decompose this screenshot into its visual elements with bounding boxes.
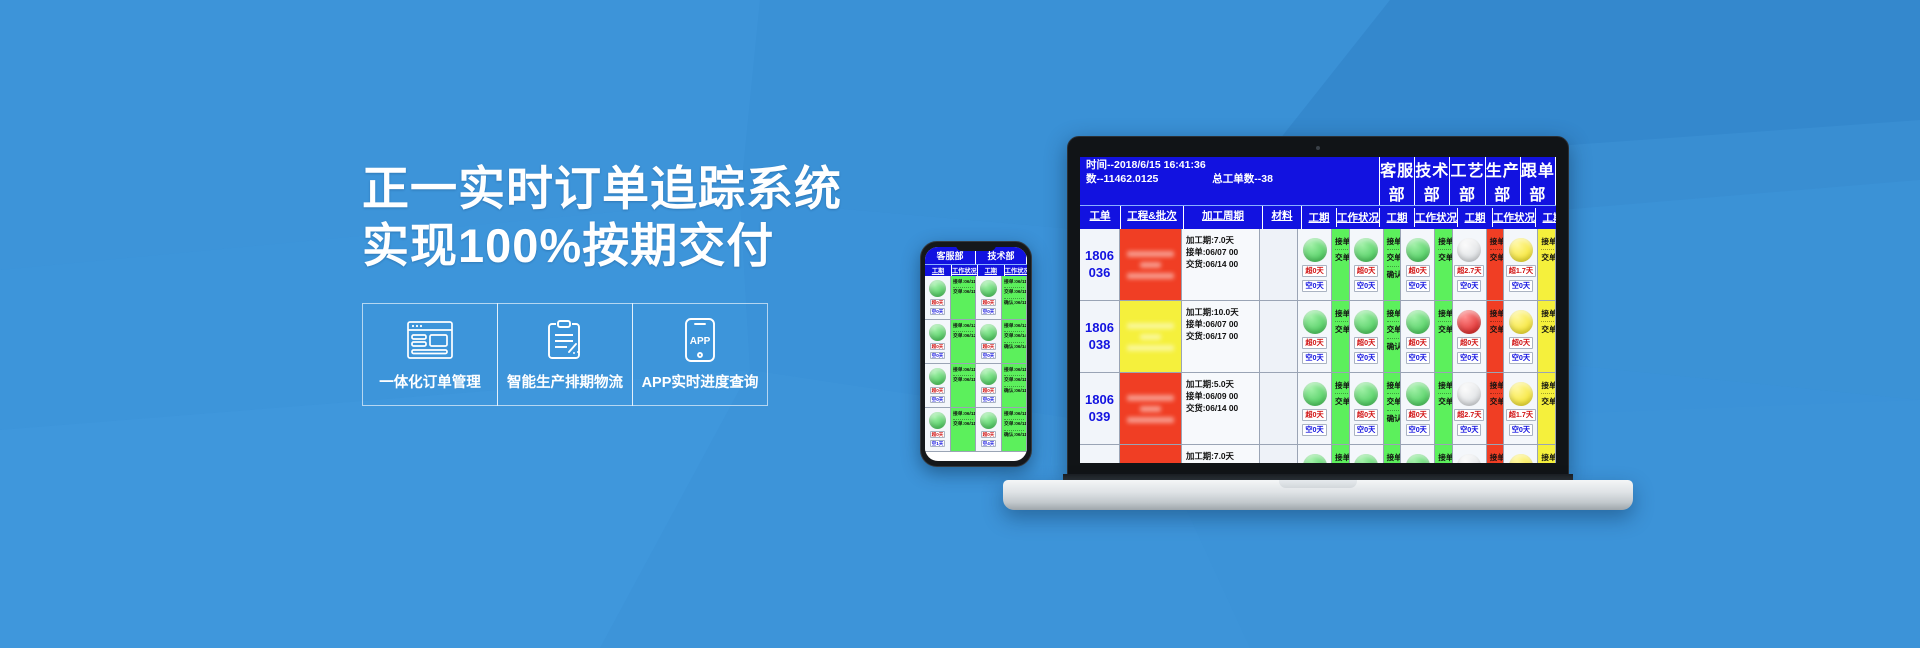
status-line: 交单: <box>1490 325 1503 337</box>
idle-badge: 空1天 <box>930 440 946 447</box>
idle-badge: 空0天 <box>981 352 997 359</box>
status-lamp-green-icon <box>1303 382 1327 406</box>
laptop-base <box>1003 480 1633 510</box>
feature-card-app-progress[interactable]: APP APP实时进度查询 <box>632 303 768 406</box>
cell-status-4[interactable]: 接单:交单: <box>1538 229 1556 300</box>
dashboard-count: 数--11462.0125 <box>1086 173 1158 185</box>
laptop-mockup: 时间--2018/6/15 16:41:36 数--11462.0125 总工单… <box>1003 136 1633 516</box>
status-lamp-green-icon <box>929 412 946 429</box>
work-order-prefix: 1806 <box>1085 248 1114 264</box>
phone-cell-term-1[interactable]: 超0天空0天 <box>976 320 1002 363</box>
status-lamp-green-icon <box>1303 310 1327 334</box>
cell-work-order[interactable]: 1806040 <box>1080 445 1120 463</box>
status-line: 接单:06/11 17 <box>953 368 973 376</box>
overdue-badge: 超2.7天 <box>1454 265 1484 277</box>
status-line: 接单:06/12 09 <box>1490 453 1503 463</box>
redacted-text <box>1140 262 1162 268</box>
overdue-badge: 超0天 <box>981 387 997 394</box>
overdue-badge: 超0天 <box>1354 265 1378 277</box>
overdue-badge: 超1.7天 <box>1506 409 1536 421</box>
status-line: 交单:06/11 17 <box>1335 253 1348 265</box>
status-line: 接单: <box>1541 453 1554 463</box>
status-lamp-yellow-icon <box>1509 454 1533 463</box>
status-line: 交单: <box>1490 253 1503 265</box>
cell-term-2[interactable]: 超0天空0天 <box>1401 373 1435 444</box>
status-line: 交单:06/11 17 <box>953 290 973 297</box>
status-line: 接单:06/11 17 <box>1335 381 1348 394</box>
idle-badge: 空0天 <box>1406 424 1430 436</box>
cycle-line: 交货:06/14 00 <box>1186 259 1259 271</box>
cell-project-batch[interactable] <box>1120 445 1182 463</box>
work-order-prefix: 1806 <box>1085 392 1114 408</box>
col-header-project-batch[interactable]: 工程&批次 <box>1121 206 1184 229</box>
cell-term-0[interactable]: 超0天空0天 <box>1298 301 1332 372</box>
overdue-badge: 超0天 <box>1302 409 1326 421</box>
idle-badge: 空0天 <box>1457 280 1481 292</box>
cell-status-2[interactable]: 接单:06/14 08交单:06/15 16 <box>1435 301 1453 372</box>
headline-line-1: 正一实时订单追踪系统 <box>362 160 882 217</box>
cell-status-3[interactable]: 接单:06/12 09交单: <box>1487 229 1505 300</box>
clipboard-schedule-icon <box>545 316 585 364</box>
status-line: 接单: <box>1541 309 1554 322</box>
feature-list: 一体化订单管理 智能生产排期物流 <box>362 303 882 406</box>
cell-term-4[interactable]: 超0天空0天 <box>1504 301 1538 372</box>
idle-badge: 空0天 <box>930 352 946 359</box>
status-line: 交单:06/11 17 <box>1335 397 1348 409</box>
cell-term-3[interactable]: 超0天空0天 <box>1453 301 1487 372</box>
feature-card-order-management[interactable]: 一体化订单管理 <box>362 303 498 406</box>
cell-term-2[interactable]: 超0天空3天 <box>1401 445 1435 463</box>
cell-status-2[interactable]: 接单:06/11 17交单:06/12 09 <box>1435 445 1453 463</box>
idle-badge: 空4天 <box>981 440 997 447</box>
status-lamp-red-icon <box>1457 310 1481 334</box>
svg-text:APP: APP <box>690 336 711 347</box>
idle-badge: 空0天 <box>1457 352 1481 364</box>
status-line: 接单:06/11 17 <box>1335 453 1348 463</box>
status-line: 接单:06/12 09 <box>1490 237 1503 250</box>
laptop-base-notch <box>1279 480 1357 488</box>
cell-term-0[interactable]: 超0天空1天 <box>1298 445 1332 463</box>
status-line: 接单: <box>1541 237 1554 250</box>
overdue-badge: 超0天 <box>1457 337 1481 349</box>
dashboard-meta: 时间--2018/6/15 16:41:36 数--11462.0125 总工单… <box>1080 157 1380 205</box>
cycle-line: 加工期:7.0天 <box>1186 451 1259 463</box>
phone-cell-status-0[interactable]: 接单:06/11 17交单:06/11 17 <box>951 408 976 451</box>
status-lamp-green-icon <box>980 280 997 297</box>
status-line: 交单:06/11 17 <box>1387 253 1400 266</box>
dept-header-1[interactable]: 技术部 <box>1415 157 1450 205</box>
phone-col-status-0[interactable]: 工作状况 <box>952 265 978 276</box>
status-line: 接单:06/12 20 <box>1387 309 1400 322</box>
cell-status-1[interactable]: 接单:06/11 17交单:06/11 17确认:06/11 17 <box>1384 229 1402 300</box>
status-line: 接单:06/12 09 <box>1490 381 1503 394</box>
idle-badge: 空0天 <box>1509 280 1533 292</box>
idle-badge: 空0天 <box>1302 280 1326 292</box>
status-lamp-green-icon <box>980 324 997 341</box>
cell-term-0[interactable]: 超0天空0天 <box>1298 373 1332 444</box>
status-line: 接单:06/11 17 <box>1438 381 1451 394</box>
status-lamp-green-icon <box>929 324 946 341</box>
status-line: 接单:06/11 17 <box>1335 237 1348 250</box>
col-header-term-3[interactable]: 工期 <box>1536 208 1556 227</box>
cell-cycle[interactable]: 加工期:5.0天接单:06/09 00交货:06/14 00 <box>1182 373 1260 444</box>
dashboard-rows[interactable]: 1806036加工期:7.0天接单:06/07 00交货:06/14 00超0天… <box>1080 229 1556 463</box>
laptop-screen[interactable]: 时间--2018/6/15 16:41:36 数--11462.0125 总工单… <box>1080 157 1556 463</box>
work-order-prefix: 1806 <box>1085 320 1114 336</box>
status-line: 确认:06/11 17 <box>1387 414 1400 426</box>
status-lamp-yellow-icon <box>1509 382 1533 406</box>
table-row[interactable]: 1806040加工期:7.0天接单:06/08 00交货:06/15 00超0天… <box>1080 445 1556 463</box>
status-lamp-green-icon <box>1354 238 1378 262</box>
idle-badge: 空0天 <box>1302 352 1326 364</box>
status-lamp-green-icon <box>1406 454 1430 463</box>
cell-term-4[interactable]: 超0.7天空1天 <box>1504 445 1538 463</box>
status-line: 交单: <box>1541 397 1554 409</box>
cell-status-4[interactable]: 接单:交单: <box>1538 301 1556 372</box>
redacted-text <box>1127 395 1173 401</box>
idle-badge: 空0天 <box>981 396 997 403</box>
status-lamp-yellow-icon <box>1509 238 1533 262</box>
status-line: 交单:06/14 08 <box>1387 325 1400 338</box>
phone-col-term-1[interactable]: 工期 <box>978 265 1005 276</box>
overdue-badge: 超1.7天 <box>1506 265 1536 277</box>
status-lamp-green-icon <box>1354 382 1378 406</box>
work-order-suffix: 038 <box>1089 337 1111 353</box>
status-line: 交单:06/11 17 <box>953 422 973 429</box>
cell-term-1[interactable]: 超0天空4天 <box>1350 445 1384 463</box>
cell-work-order[interactable]: 1806039 <box>1080 373 1120 444</box>
cell-status-1[interactable]: 接单:06/11 17交单:06/11 17确认:06/11 17 <box>1384 445 1402 463</box>
status-line: 接单:06/15 16 <box>1490 309 1503 322</box>
cell-term-1[interactable]: 超0天空0天 <box>1350 229 1384 300</box>
idle-badge: 空0天 <box>1354 352 1378 364</box>
cell-status-0[interactable]: 接单:06/11 17交单:06/11 17 <box>1332 373 1350 444</box>
status-lamp-green-icon <box>1354 454 1378 463</box>
status-line: 交单:06/12 09 <box>1438 397 1451 409</box>
overdue-badge: 超0天 <box>1406 409 1430 421</box>
overdue-badge: 超0天 <box>981 299 997 306</box>
overdue-badge: 超0天 <box>930 343 946 350</box>
status-lamp-green-icon <box>1406 238 1430 262</box>
idle-badge: 空0天 <box>1302 424 1326 436</box>
col-header-status-2[interactable]: 工作状况 <box>1493 208 1536 227</box>
cell-cycle[interactable]: 加工期:7.0天接单:06/08 00交货:06/15 00 <box>1182 445 1260 463</box>
phone-cell-term-0[interactable]: 超0天空1天 <box>925 408 951 451</box>
cell-status-3[interactable]: 接单:06/15 16交单: <box>1487 301 1505 372</box>
overdue-badge: 超0天 <box>1509 337 1533 349</box>
idle-badge: 空0天 <box>1354 424 1378 436</box>
idle-badge: 空0天 <box>930 308 946 315</box>
cycle-line: 接单:06/09 00 <box>1186 391 1259 403</box>
cell-term-3[interactable]: 超2.7天空0天 <box>1453 373 1487 444</box>
status-line: 交单: <box>1541 253 1554 265</box>
redacted-text <box>1127 251 1173 257</box>
cell-term-1[interactable]: 超0天空0天 <box>1350 373 1384 444</box>
status-line: 确认:06/14 08 <box>1387 342 1400 354</box>
cycle-line: 加工期:10.0天 <box>1186 307 1259 319</box>
overdue-badge: 超2.7天 <box>1454 409 1484 421</box>
overdue-badge: 超0天 <box>930 299 946 306</box>
redacted-text <box>1140 334 1162 340</box>
overdue-badge: 超0天 <box>1354 337 1378 349</box>
status-line: 交单:06/11 17 <box>1387 397 1400 410</box>
cell-work-order[interactable]: 1806038 <box>1080 301 1120 372</box>
col-header-term-2[interactable]: 工期 <box>1458 208 1493 227</box>
overdue-badge: 超0天 <box>1354 409 1378 421</box>
cell-project-batch[interactable] <box>1120 301 1182 372</box>
col-header-status-0[interactable]: 工作状况 <box>1337 208 1380 227</box>
cycle-line: 交货:06/14 00 <box>1186 403 1259 415</box>
table-row[interactable]: 1806038加工期:10.0天接单:06/07 00交货:06/17 00超0… <box>1080 301 1556 373</box>
dept-header-4[interactable]: 跟单部 <box>1521 157 1556 205</box>
cell-term-0[interactable]: 超0天空0天 <box>1298 229 1332 300</box>
status-line: 接单:06/11 17 <box>1438 237 1451 250</box>
cell-material[interactable] <box>1260 229 1298 300</box>
cell-material[interactable] <box>1260 301 1298 372</box>
cell-cycle[interactable]: 加工期:7.0天接单:06/07 00交货:06/14 00 <box>1182 229 1260 300</box>
dashboard-total-orders: 总工单数--38 <box>1212 173 1273 185</box>
dashboard-count-row: 数--11462.0125 总工单数--38 <box>1086 173 1379 187</box>
cell-status-3[interactable]: 接单:06/12 09交单: <box>1487 373 1505 444</box>
table-row[interactable]: 1806039加工期:5.0天接单:06/09 00交货:06/14 00超0天… <box>1080 373 1556 445</box>
cycle-line: 交货:06/17 00 <box>1186 331 1259 343</box>
table-row[interactable]: 1806036加工期:7.0天接单:06/07 00交货:06/14 00超0天… <box>1080 229 1556 301</box>
redacted-text <box>1127 323 1173 329</box>
cell-status-1[interactable]: 接单:06/11 17交单:06/11 17确认:06/11 17 <box>1384 373 1402 444</box>
cell-status-2[interactable]: 接单:06/11 17交单:06/12 09 <box>1435 229 1453 300</box>
col-header-cycle[interactable]: 加工周期 <box>1184 206 1263 229</box>
cell-status-0[interactable]: 接单:06/12 20交单:06/12 20 <box>1332 301 1350 372</box>
mobile-app-icon: APP <box>684 316 716 364</box>
overdue-badge: 超0天 <box>930 431 946 438</box>
work-order-suffix: 039 <box>1089 409 1111 425</box>
idle-badge: 空0天 <box>1509 352 1533 364</box>
status-lamp-green-icon <box>929 280 946 297</box>
redacted-text <box>1127 417 1173 423</box>
status-line: 接单:06/11 17 <box>1387 381 1400 394</box>
status-lamp-yellow-icon <box>1509 310 1533 334</box>
cell-status-3[interactable]: 接单:06/12 09交单: <box>1487 445 1505 463</box>
feature-label-app-progress: APP实时进度查询 <box>642 371 759 392</box>
status-lamp-green-icon <box>1303 454 1327 463</box>
cycle-line: 接单:06/07 00 <box>1186 319 1259 331</box>
cell-term-2[interactable]: 超0天空0天 <box>1401 229 1435 300</box>
status-line: 交单:06/12 20 <box>953 334 973 341</box>
phone-col-term-0[interactable]: 工期 <box>925 265 952 276</box>
phone-cell-term-1[interactable]: 超0天空4天 <box>976 408 1002 451</box>
cell-project-batch[interactable] <box>1120 373 1182 444</box>
phone-cell-status-0[interactable]: 接单:06/11 17交单:06/11 17 <box>951 276 976 319</box>
dept-header-2[interactable]: 工艺部 <box>1450 157 1485 205</box>
status-lamp-grey-icon <box>1457 382 1481 406</box>
cycle-line: 加工期:5.0天 <box>1186 379 1259 391</box>
status-line: 接单:06/14 08 <box>1438 309 1451 322</box>
overdue-badge: 超0天 <box>1302 265 1326 277</box>
dept-header-3[interactable]: 生产部 <box>1486 157 1521 205</box>
overdue-badge: 超0天 <box>1302 337 1326 349</box>
cell-material[interactable] <box>1260 445 1298 463</box>
idle-badge: 空0天 <box>1457 424 1481 436</box>
phone-cell-term-0[interactable]: 超0天空0天 <box>925 364 951 407</box>
feature-card-production-schedule[interactable]: 智能生产排期物流 <box>497 303 633 406</box>
dashboard-time: 时间--2018/6/15 16:41:36 <box>1086 159 1379 173</box>
status-lamp-green-icon <box>980 368 997 385</box>
cell-status-4[interactable]: 接单:交单: <box>1538 445 1556 463</box>
col-header-status-1[interactable]: 工作状况 <box>1415 208 1458 227</box>
status-lamp-green-icon <box>929 368 946 385</box>
status-line: 接单: <box>1541 381 1554 394</box>
cycle-line: 接单:06/07 00 <box>1186 247 1259 259</box>
cell-term-3[interactable]: 超1.7天空5天 <box>1453 445 1487 463</box>
status-lamp-grey-icon <box>1457 238 1481 262</box>
status-lamp-green-icon <box>1354 310 1378 334</box>
cell-status-0[interactable]: 接单:06/11 17交单:06/11 17 <box>1332 229 1350 300</box>
phone-cell-term-0[interactable]: 超0天空0天 <box>925 276 951 319</box>
cell-status-2[interactable]: 接单:06/11 17交单:06/12 09 <box>1435 373 1453 444</box>
status-line: 交单:06/15 16 <box>1438 325 1451 337</box>
dashboard-column-header: 工单 工程&批次 加工周期 材料 工期工作状况工期工作状况工期工作状况工期工作状… <box>1080 205 1556 229</box>
cell-term-4[interactable]: 超1.7天空0天 <box>1504 373 1538 444</box>
overdue-badge: 超0天 <box>981 343 997 350</box>
cell-status-0[interactable]: 接单:06/11 17交单:06/11 17 <box>1332 445 1350 463</box>
overdue-badge: 超0天 <box>930 387 946 394</box>
cell-term-1[interactable]: 超0天空0天 <box>1350 301 1384 372</box>
col-header-term-0[interactable]: 工期 <box>1302 208 1337 227</box>
webcam-icon <box>1316 146 1320 150</box>
idle-badge: 空0天 <box>1406 280 1430 292</box>
phone-notch <box>956 244 996 251</box>
cell-status-1[interactable]: 接单:06/12 20交单:06/14 08确认:06/14 08 <box>1384 301 1402 372</box>
status-line: 交单:06/11 17 <box>953 378 973 385</box>
idle-badge: 空0天 <box>1509 424 1533 436</box>
status-line: 接单:06/12 20 <box>1335 309 1348 322</box>
cell-term-3[interactable]: 超2.7天空0天 <box>1453 229 1487 300</box>
status-lamp-green-icon <box>1406 310 1430 334</box>
idle-badge: 空0天 <box>1406 352 1430 364</box>
status-line: 交单:06/12 20 <box>1335 325 1348 337</box>
cell-term-4[interactable]: 超1.7天空0天 <box>1504 229 1538 300</box>
idle-badge: 空0天 <box>1354 280 1378 292</box>
redacted-text <box>1127 273 1173 279</box>
dashboard-layout-icon <box>407 316 453 364</box>
status-lamp-green-icon <box>1406 382 1430 406</box>
phone-cell-status-0[interactable]: 接单:06/12 20交单:06/12 20 <box>951 320 976 363</box>
col-header-term-1[interactable]: 工期 <box>1380 208 1415 227</box>
status-line: 接单:06/12 20 <box>953 324 973 332</box>
status-line: 交单: <box>1541 325 1554 337</box>
status-line: 接单:06/11 17 <box>1387 453 1400 463</box>
status-lamp-green-icon <box>980 412 997 429</box>
col-header-material[interactable]: 材料 <box>1263 206 1302 229</box>
overdue-badge: 超0天 <box>1406 265 1430 277</box>
cell-material[interactable] <box>1260 373 1298 444</box>
status-line: 确认:06/11 17 <box>1387 270 1400 282</box>
cell-work-order[interactable]: 1806036 <box>1080 229 1120 300</box>
cell-status-4[interactable]: 接单:交单: <box>1538 373 1556 444</box>
dept-header-0[interactable]: 客服部 <box>1380 157 1415 205</box>
redacted-text <box>1140 406 1162 412</box>
status-line: 接单:06/11 17 <box>953 412 973 420</box>
overdue-badge: 超0天 <box>981 431 997 438</box>
hero-text-block: 正一实时订单追踪系统 实现100%按期交付 一体化订单管理 <box>362 160 882 406</box>
status-line: 接单:06/11 17 <box>1387 237 1400 250</box>
status-lamp-green-icon <box>1303 238 1327 262</box>
feature-label-order-management: 一体化订单管理 <box>379 371 481 392</box>
work-order-suffix: 036 <box>1089 265 1111 281</box>
cell-term-2[interactable]: 超0天空0天 <box>1401 301 1435 372</box>
idle-badge: 空0天 <box>930 396 946 403</box>
dashboard-dept-header: 时间--2018/6/15 16:41:36 数--11462.0125 总工单… <box>1080 157 1556 205</box>
status-line: 交单: <box>1490 397 1503 409</box>
laptop-lid: 时间--2018/6/15 16:41:36 数--11462.0125 总工单… <box>1067 136 1569 480</box>
status-line: 交单:06/12 09 <box>1438 253 1451 265</box>
cell-project-batch[interactable] <box>1120 229 1182 300</box>
cycle-line: 加工期:7.0天 <box>1186 235 1259 247</box>
cell-cycle[interactable]: 加工期:10.0天接单:06/07 00交货:06/17 00 <box>1182 301 1260 372</box>
phone-cell-term-1[interactable]: 超0天空0天 <box>976 364 1002 407</box>
phone-cell-term-0[interactable]: 超0天空0天 <box>925 320 951 363</box>
order-tracking-dashboard: 时间--2018/6/15 16:41:36 数--11462.0125 总工单… <box>1080 157 1556 463</box>
col-header-work-order[interactable]: 工单 <box>1080 206 1121 229</box>
overdue-badge: 超0天 <box>1406 337 1430 349</box>
feature-label-production-schedule: 智能生产排期物流 <box>507 371 623 392</box>
status-lamp-grey-icon <box>1457 454 1481 463</box>
headline-line-2: 实现100%按期交付 <box>362 217 882 274</box>
status-line: 接单:06/11 17 <box>953 280 973 288</box>
phone-cell-status-0[interactable]: 接单:06/11 17交单:06/11 17 <box>951 364 976 407</box>
status-line: 接单:06/11 17 <box>1438 453 1451 463</box>
phone-cell-term-1[interactable]: 超0天空0天 <box>976 276 1002 319</box>
redacted-text <box>1127 345 1173 351</box>
idle-badge: 空0天 <box>981 308 997 315</box>
